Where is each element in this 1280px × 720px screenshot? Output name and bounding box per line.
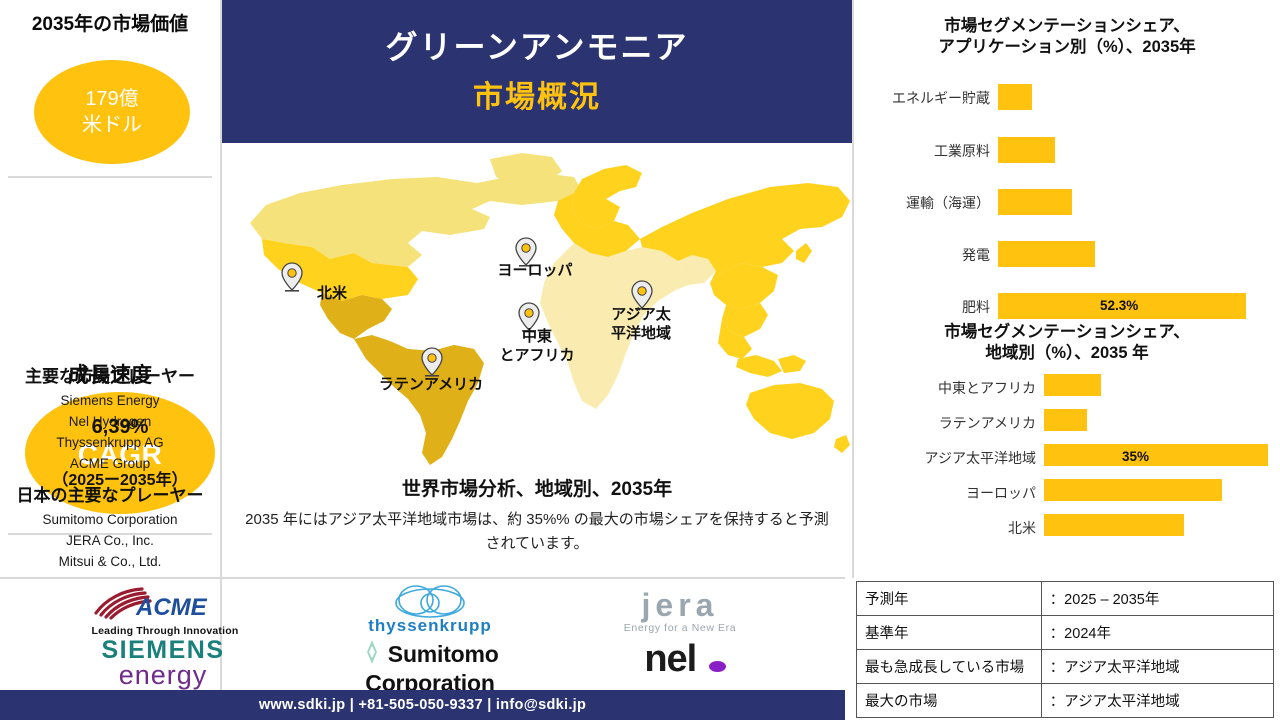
- bar-label: ヨーロッパ: [884, 483, 1036, 503]
- thyssenkrupp-wordmark: thyssenkrupp: [340, 616, 520, 636]
- table-cell-key: 予測年: [857, 582, 1042, 616]
- table-row: 予測年 ：2025 – 2035年: [857, 582, 1274, 616]
- page-title: グリーンアンモニア: [385, 26, 688, 68]
- list-item: ACME Group: [0, 453, 220, 474]
- market-value-title: 2035年の市場価値: [0, 0, 220, 36]
- map-region-asia-pacific: [640, 183, 850, 453]
- nel-dot-icon: [709, 661, 726, 672]
- bar: [1044, 409, 1087, 431]
- bar-group: ヨーロッパ: [854, 479, 1280, 503]
- bar: [1044, 514, 1184, 536]
- nel-wordmark: nel: [644, 638, 696, 680]
- list-item: Thyssenkrupp AG: [0, 432, 220, 453]
- table-cell-value: ：2025 – 2035年: [1041, 582, 1273, 616]
- bar: [998, 84, 1032, 110]
- map-pin-north-america: [282, 263, 302, 292]
- list-item: Mitsui & Co., Ltd.: [0, 551, 220, 572]
- footer-bar: www.sdki.jp | +81-505-050-9337 | info@sd…: [0, 690, 845, 720]
- bar-group: ラテンアメリカ: [854, 409, 1280, 433]
- bar: [1044, 444, 1268, 466]
- table-row: 基準年 ：2024年: [857, 616, 1274, 650]
- bar-label: アジア太平洋地域: [864, 448, 1036, 468]
- chart-region-segmentation: 市場セグメンテーションシェア、 地域別（%）、2035 年 中東とアフリカ ラテ…: [854, 322, 1280, 558]
- map-label-ap-line2: 平洋地域: [611, 324, 671, 343]
- jera-tagline: Energy for a New Era: [595, 622, 765, 634]
- acme-logo: ACME Leading Through Innovation: [85, 587, 245, 637]
- bar-label: 発電: [864, 245, 990, 265]
- logo-strip: ACME Leading Through Innovation SIEMENS …: [0, 577, 845, 690]
- page-subtitle: 市場概況: [473, 78, 601, 118]
- map-region-latin-america: [354, 335, 484, 465]
- market-players-block: 主要な市場プレーヤー Siemens Energy Nel Hydrogen T…: [0, 362, 220, 572]
- key-players-list: Siemens Energy Nel Hydrogen Thyssenkrupp…: [0, 390, 220, 474]
- table-cell-value: ：アジア太平洋地域: [1041, 684, 1273, 718]
- chart-application-title-line1: 市場セグメンテーションシェア、: [854, 16, 1280, 37]
- table-cell-key: 最大の市場: [857, 684, 1042, 718]
- table-cell-value: ：アジア太平洋地域: [1041, 650, 1273, 684]
- nel-logo: nel: [605, 639, 765, 679]
- chart-region-title-line2: 地域別（%）、2035 年: [854, 343, 1280, 364]
- market-value-block: 2035年の市場価値 179億 米ドル: [0, 0, 220, 178]
- table-cell-key: 最も急成長している市場: [857, 650, 1042, 684]
- map-label-middle-east-africa: 中東 とアフリカ: [499, 327, 574, 365]
- world-map: 北米 ヨーロッパ 中東 とアフリカ アジア太 平洋地域 ラテンアメリカ: [222, 143, 852, 473]
- bar-group: エネルギー貯蔵: [854, 84, 1280, 110]
- bar-label: 肥料: [864, 297, 990, 317]
- bar: [998, 189, 1072, 215]
- bar-group: 肥料 52.3%: [854, 293, 1280, 319]
- japan-players-list: Sumitomo Corporation JERA Co., Inc. Mits…: [0, 509, 220, 572]
- map-label-ap-line1: アジア太: [611, 305, 671, 324]
- bar: [1044, 374, 1101, 396]
- right-panel: 市場セグメンテーションシェア、 アプリケーション別（%）、2035年 エネルギー…: [852, 0, 1280, 578]
- bar-group: アジア太平洋地域 35%: [854, 444, 1280, 468]
- map-label-europe: ヨーロッパ: [497, 261, 572, 280]
- bar-value-label: 35%: [1122, 449, 1149, 464]
- chart-application-title-line2: アプリケーション別（%）、2035年: [854, 37, 1280, 58]
- sidebar-divider-1: [8, 176, 212, 178]
- sumitomo-wordmark: Sumitomo Corporation: [365, 641, 498, 696]
- thyssenkrupp-logo-mark: [380, 585, 480, 619]
- bar-label: 工業原料: [864, 141, 990, 161]
- bar-label: ラテンアメリカ: [884, 413, 1036, 433]
- bar-group: 発電: [854, 241, 1280, 267]
- market-value-amount-line2: 米ドル: [82, 112, 142, 138]
- market-value-bubble: 179億 米ドル: [34, 60, 190, 164]
- sumitomo-diamond-icon: [361, 639, 383, 670]
- market-value-amount-line1: 179億: [85, 86, 138, 112]
- bar-label: 北米: [884, 518, 1036, 538]
- footer-contact[interactable]: www.sdki.jp | +81-505-050-9337 | info@sd…: [259, 697, 586, 713]
- map-caption-heading: 世界市場分析、地域別、2035年: [222, 470, 852, 502]
- energy-wordmark: energy: [78, 661, 248, 689]
- chart-region-plot: 中東とアフリカ ラテンアメリカ アジア太平洋地域 35% ヨーロッパ: [854, 374, 1280, 549]
- table-row: 最も急成長している市場 ：アジア太平洋地域: [857, 650, 1274, 684]
- map-label-north-america: 北米: [317, 284, 347, 303]
- bar-label: 運輸（海運）: [864, 193, 990, 213]
- bar: [998, 137, 1055, 163]
- thyssenkrupp-logo: thyssenkrupp: [340, 585, 520, 636]
- table-cell-value: ：2024年: [1041, 616, 1273, 650]
- chart-application-segmentation: 市場セグメンテーションシェア、 アプリケーション別（%）、2035年 エネルギー…: [854, 0, 1280, 340]
- jera-wordmark: Jera: [595, 589, 765, 621]
- table-row: 最大の市場 ：アジア太平洋地域: [857, 684, 1274, 718]
- chart-application-plot: エネルギー貯蔵 工業原料 運輸（海運） 発電: [854, 70, 1280, 330]
- list-item: Nel Hydrogen: [0, 411, 220, 432]
- map-caption-body: 2035 年にはアジア太平洋地域市場は、約 35%% の最大の市場シェアを保持す…: [222, 502, 852, 556]
- key-players-heading: 主要な市場プレーヤー: [0, 362, 220, 387]
- bar: [998, 241, 1095, 267]
- list-item: Siemens Energy: [0, 390, 220, 411]
- list-item: JERA Co., Inc.: [0, 530, 220, 551]
- map-label-mea-line1: 中東: [499, 327, 574, 346]
- bar-group: 運輸（海運）: [854, 189, 1280, 215]
- siemens-energy-logo: SIEMENS energy: [78, 637, 248, 689]
- jera-logo: Jera Energy for a New Era: [595, 589, 765, 634]
- bar-label: エネルギー貯蔵: [864, 88, 990, 108]
- map-caption: 世界市場分析、地域別、2035年 2035 年にはアジア太平洋地域市場は、約 3…: [222, 470, 852, 575]
- page-header: グリーンアンモニア 市場概況: [222, 0, 852, 143]
- bar-value-label: 52.3%: [1100, 298, 1138, 313]
- table-cell-key: 基準年: [857, 616, 1042, 650]
- bar: [1044, 479, 1222, 501]
- acme-logo-mark: ACME: [90, 587, 240, 621]
- map-label-mea-line2: とアフリカ: [499, 346, 574, 365]
- map-label-latin-america: ラテンアメリカ: [379, 375, 483, 394]
- chart-region-title-line1: 市場セグメンテーションシェア、: [854, 322, 1280, 343]
- chart-region-title: 市場セグメンテーションシェア、 地域別（%）、2035 年: [854, 322, 1280, 364]
- bar-group: 中東とアフリカ: [854, 374, 1280, 398]
- world-map-svg: [222, 143, 852, 473]
- map-label-asia-pacific: アジア太 平洋地域: [611, 305, 671, 343]
- svg-text:ACME: ACME: [135, 594, 208, 621]
- sumitomo-logo: Sumitomo Corporation: [325, 639, 535, 697]
- list-item: Sumitomo Corporation: [0, 509, 220, 530]
- summary-table: 予測年 ：2025 – 2035年 基準年 ：2024年 最も急成長している市場…: [852, 578, 1280, 720]
- japan-players-heading: 日本の主要なプレーヤー: [0, 481, 220, 506]
- bar-group: 工業原料: [854, 137, 1280, 163]
- chart-application-title: 市場セグメンテーションシェア、 アプリケーション別（%）、2035年: [854, 0, 1280, 58]
- bar-label: 中東とアフリカ: [884, 378, 1036, 398]
- bar-group: 北米: [854, 514, 1280, 538]
